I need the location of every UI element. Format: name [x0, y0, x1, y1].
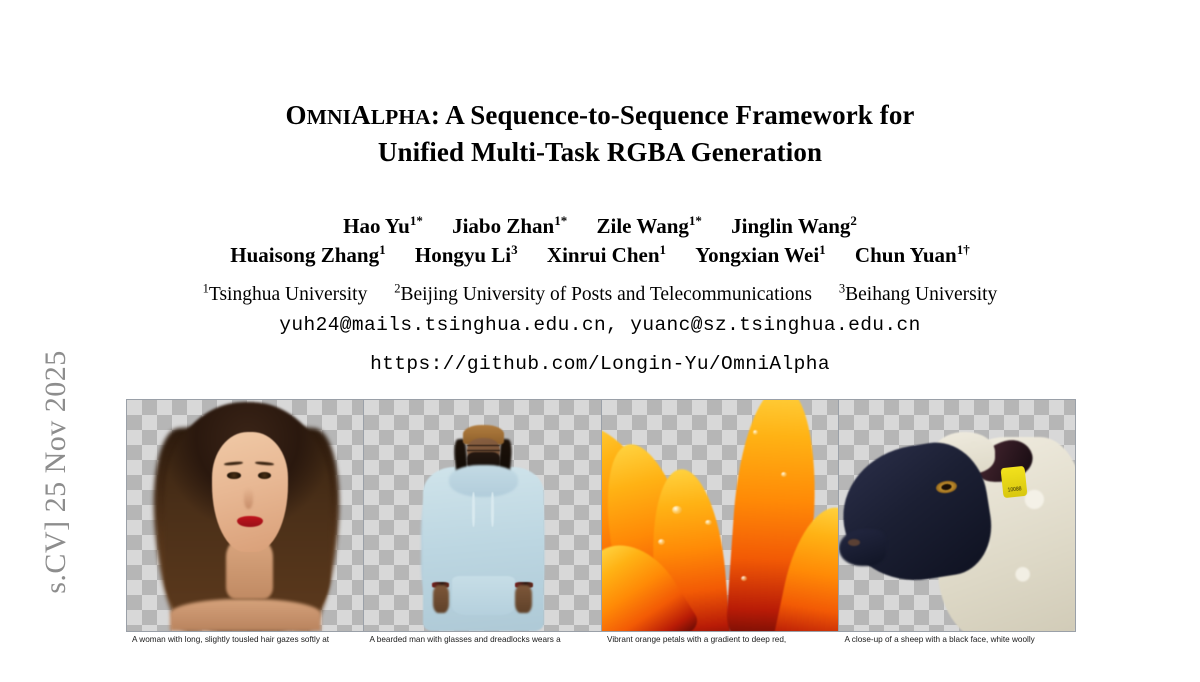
- author-name: Jinglin Wang: [731, 214, 850, 238]
- eye-left: [227, 472, 240, 479]
- author-entry: Zile Wang1*: [596, 214, 701, 238]
- author-name: Huaisong Zhang: [230, 243, 379, 267]
- glasses-icon: [467, 445, 500, 451]
- author-entry: Hao Yu1*: [343, 214, 423, 238]
- contact-emails[interactable]: yuh24@mails.tsinghua.edu.cn, yuanc@sz.ts…: [0, 314, 1200, 336]
- rgba-subject-woman: [127, 400, 363, 631]
- red-lips: [237, 516, 263, 528]
- affiliation-entry: 3Beihang University: [839, 284, 997, 305]
- rgba-subject-sheep: 10088: [839, 400, 1075, 631]
- panel-caption: A bearded man with glasses and dreadlock…: [364, 634, 602, 648]
- affiliation-entry: 1Tsinghua University: [203, 284, 368, 305]
- ear-tag-number: 10088: [1007, 487, 1022, 498]
- author-affiliation-marker: 1*: [410, 213, 423, 228]
- muzzle: [839, 529, 886, 566]
- author-entry: Huaisong Zhang1: [230, 243, 385, 267]
- author-entry: Jiabo Zhan1*: [452, 214, 567, 238]
- hoodie-drawstring-left: [472, 492, 475, 527]
- author-entry: Jinglin Wang2: [731, 214, 857, 238]
- author-name: Xinrui Chen: [547, 243, 660, 267]
- author-name: Yongxian Wei: [695, 243, 819, 267]
- hand-right: [515, 585, 532, 613]
- author-affiliation-marker: 3: [511, 242, 518, 257]
- title-smallcap-mni: MNI: [307, 105, 352, 129]
- project-repository-link[interactable]: https://github.com/Longin-Yu/OmniAlpha: [0, 353, 1200, 375]
- author-affiliation-marker: 1: [660, 242, 667, 257]
- author-name: Chun Yuan: [855, 243, 957, 267]
- nose: [244, 488, 253, 509]
- panel-caption: A woman with long, slightly tousled hair…: [126, 634, 364, 648]
- title-smallcap-a: A: [351, 100, 371, 130]
- water-droplet: [781, 472, 787, 477]
- figure-panel-bearded-man: [364, 400, 601, 631]
- figure-panel-sheep-closeup: 10088: [839, 400, 1075, 631]
- affiliation-name: Beijing University of Posts and Telecomm…: [400, 284, 812, 305]
- water-droplet: [705, 520, 711, 525]
- panel-caption: Vibrant orange petals with a gradient to…: [601, 634, 839, 648]
- title-line-1: OMNIALPHA: A Sequence-to-Sequence Framew…: [0, 98, 1200, 135]
- affiliation-name: Tsinghua University: [209, 284, 367, 305]
- hoodie-drawstring-right: [491, 492, 494, 527]
- shoulders: [170, 599, 321, 631]
- title-line-1-tail: : A Sequence-to-Sequence Framework for: [431, 100, 915, 130]
- figure-caption-row: A woman with long, slightly tousled hair…: [126, 634, 1076, 648]
- water-droplet: [672, 506, 681, 514]
- water-droplet: [658, 539, 665, 545]
- rgba-subject-flower: [602, 400, 838, 631]
- hand-left: [433, 585, 450, 613]
- water-droplet: [753, 430, 759, 435]
- hoodie-pocket: [452, 576, 516, 615]
- author-affiliation-marker: 1: [379, 242, 386, 257]
- figure-panel-orange-petals: [602, 400, 839, 631]
- teaser-figure-strip: 10088: [126, 399, 1076, 632]
- nostril: [848, 539, 860, 546]
- author-affiliation-marker: 1*: [689, 213, 702, 228]
- hood-collar: [449, 465, 518, 497]
- paper-page: OMNIALPHA: A Sequence-to-Sequence Framew…: [0, 0, 1200, 648]
- author-affiliation-marker: 2: [850, 213, 857, 228]
- author-entry: Xinrui Chen1: [547, 243, 666, 267]
- affiliation-list: 1Tsinghua University 2Beijing University…: [0, 282, 1200, 307]
- author-affiliation-marker: 1: [819, 242, 826, 257]
- author-row-2: Huaisong Zhang1 Hongyu Li3 Xinrui Chen1 …: [0, 241, 1200, 270]
- author-entry: Yongxian Wei1: [695, 243, 825, 267]
- title-smallcap-o: O: [285, 100, 306, 130]
- author-name: Jiabo Zhan: [452, 214, 554, 238]
- author-name: Zile Wang: [596, 214, 688, 238]
- paper-title: OMNIALPHA: A Sequence-to-Sequence Framew…: [0, 98, 1200, 170]
- author-name: Hao Yu: [343, 214, 410, 238]
- author-row-1: Hao Yu1* Jiabo Zhan1* Zile Wang1* Jingli…: [0, 212, 1200, 241]
- title-smallcap-lpha: LPHA: [371, 105, 431, 129]
- author-entry: Chun Yuan1†: [855, 243, 970, 267]
- author-affiliation-marker: 1†: [957, 242, 970, 257]
- title-line-2: Unified Multi-Task RGBA Generation: [0, 135, 1200, 170]
- author-list: Hao Yu1* Jiabo Zhan1* Zile Wang1* Jingli…: [0, 212, 1200, 270]
- author-entry: Hongyu Li3: [415, 243, 518, 267]
- panel-caption: A close-up of a sheep with a black face,…: [839, 634, 1077, 648]
- figure-panel-woman-portrait: [127, 400, 364, 631]
- yellow-ear-tag: 10088: [1000, 466, 1027, 498]
- affiliation-name: Beihang University: [845, 284, 997, 305]
- author-name: Hongyu Li: [415, 243, 511, 267]
- author-affiliation-marker: 1*: [554, 213, 567, 228]
- rgba-subject-man: [364, 400, 600, 631]
- affiliation-entry: 2Beijing University of Posts and Telecom…: [394, 284, 812, 305]
